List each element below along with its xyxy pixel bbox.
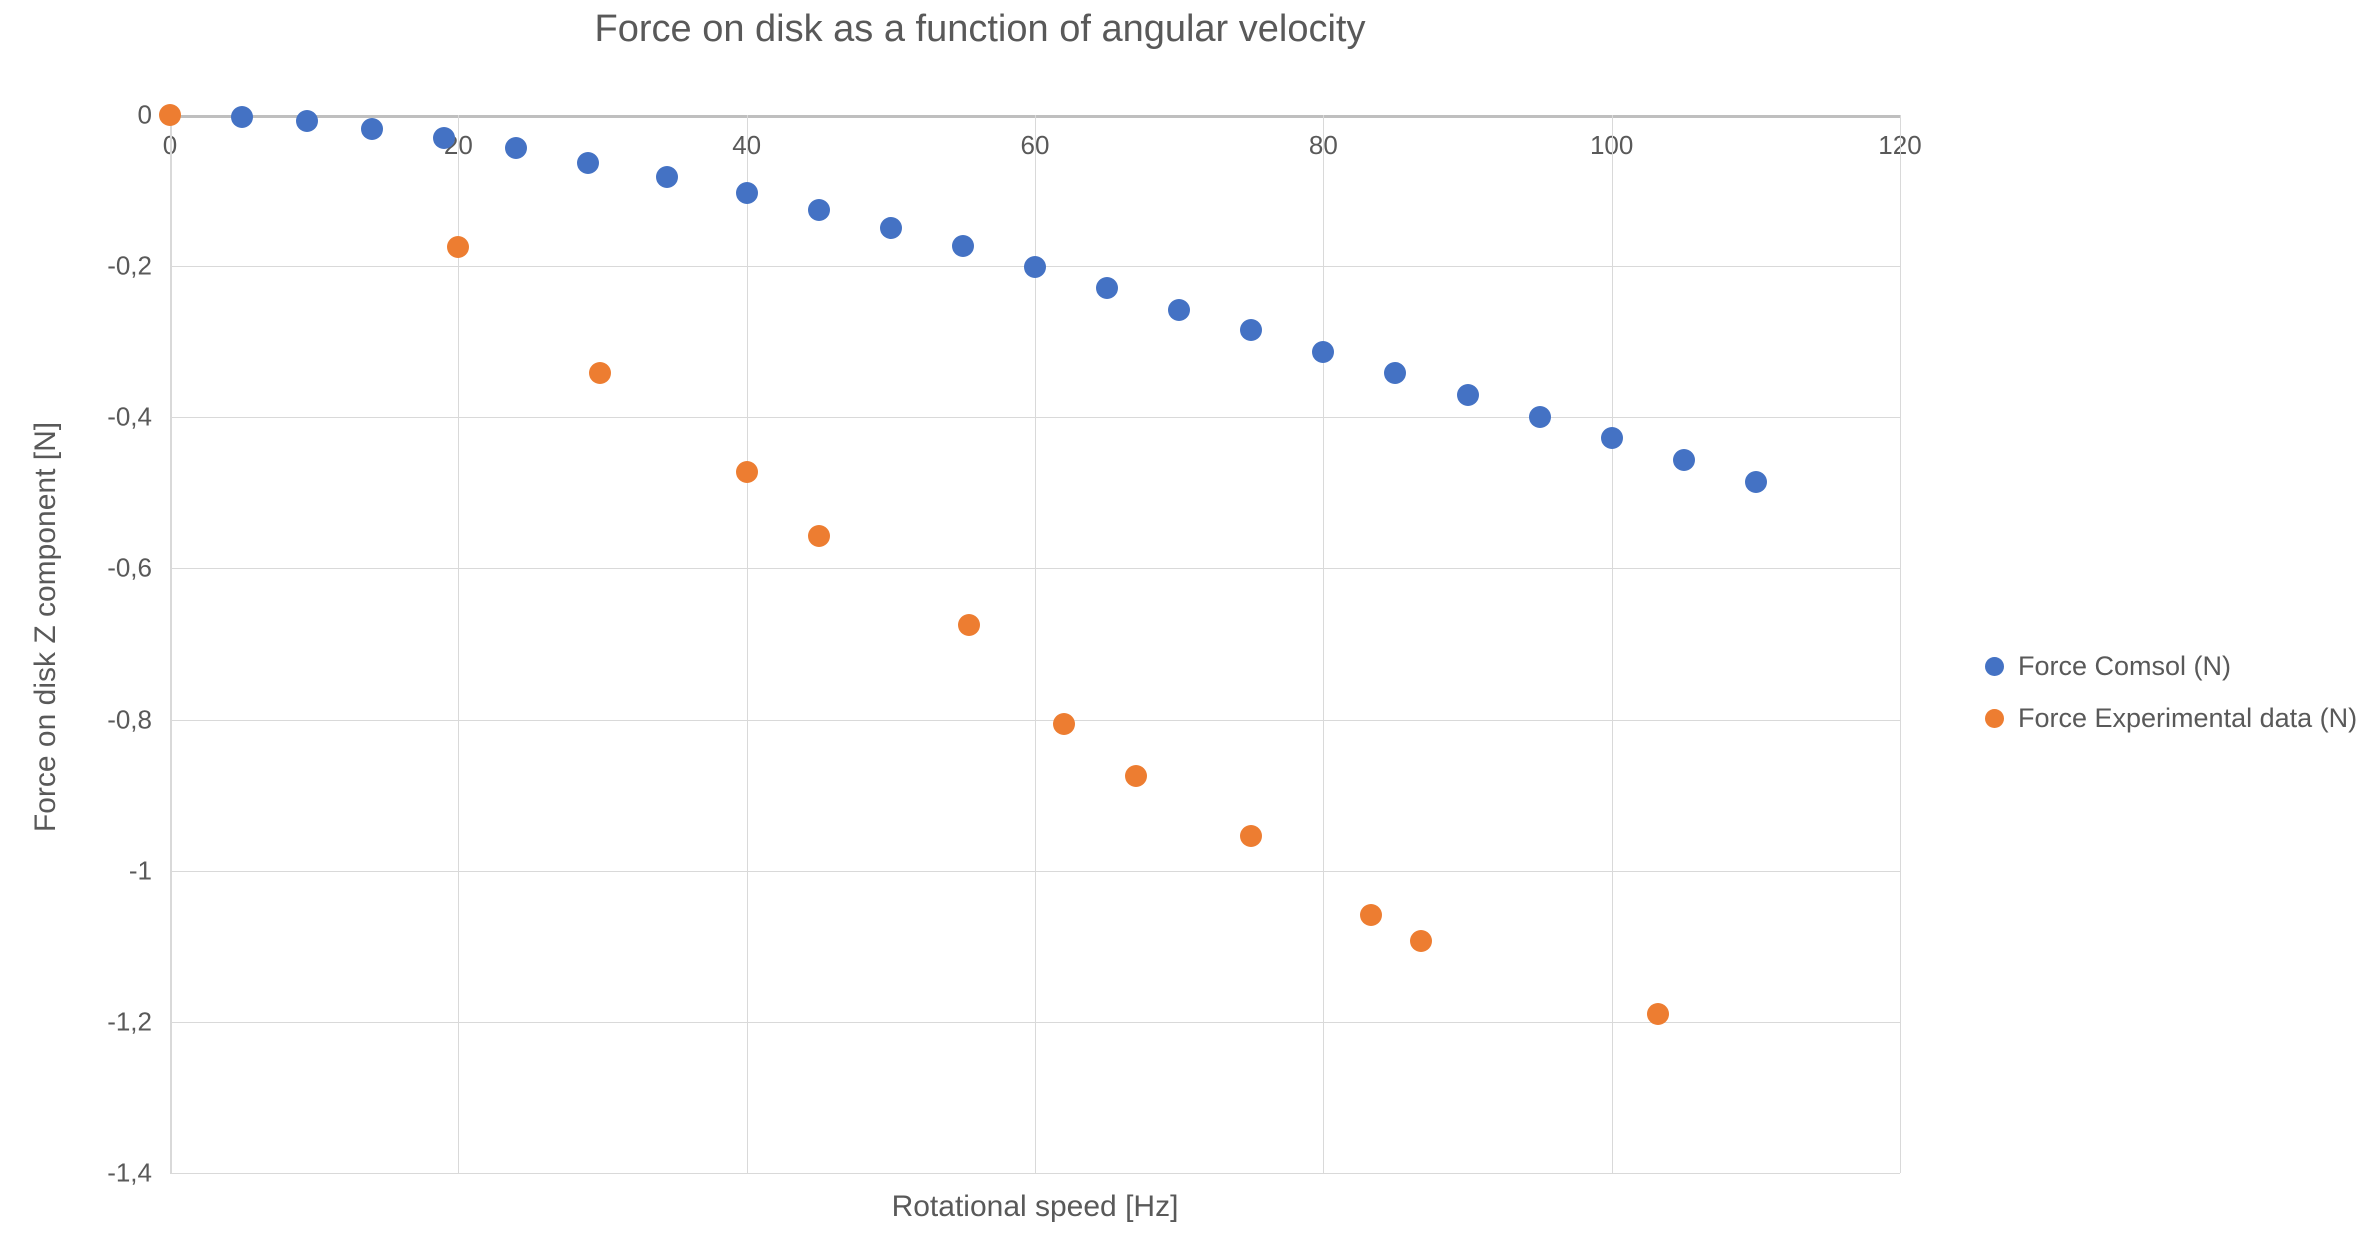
data-point[interactable] xyxy=(1360,904,1382,926)
legend-item-label: Force Experimental data (N) xyxy=(2018,703,2357,734)
data-point[interactable] xyxy=(1024,256,1046,278)
data-point[interactable] xyxy=(1125,765,1147,787)
data-point[interactable] xyxy=(1384,362,1406,384)
legend-item[interactable]: Force Experimental data (N) xyxy=(1985,692,2355,744)
data-point[interactable] xyxy=(656,166,678,188)
data-point[interactable] xyxy=(1240,825,1262,847)
data-point[interactable] xyxy=(736,182,758,204)
data-point[interactable] xyxy=(577,152,599,174)
gridline-vertical xyxy=(747,115,748,1173)
data-point[interactable] xyxy=(808,199,830,221)
data-point[interactable] xyxy=(1529,406,1551,428)
data-point[interactable] xyxy=(958,614,980,636)
data-point[interactable] xyxy=(447,236,469,258)
gridline-vertical xyxy=(458,115,459,1173)
data-point[interactable] xyxy=(361,118,383,140)
data-point[interactable] xyxy=(433,127,455,149)
data-point[interactable] xyxy=(952,235,974,257)
data-point[interactable] xyxy=(231,106,253,128)
circle-marker-icon xyxy=(1985,709,2004,728)
chart-title: Force on disk as a function of angular v… xyxy=(0,8,1960,51)
y-tick-label: -0,2 xyxy=(107,251,152,282)
data-point[interactable] xyxy=(589,362,611,384)
data-point[interactable] xyxy=(159,104,181,126)
data-point[interactable] xyxy=(880,217,902,239)
data-point[interactable] xyxy=(1457,384,1479,406)
data-point[interactable] xyxy=(1053,713,1075,735)
gridline-vertical xyxy=(1612,115,1613,1173)
data-point[interactable] xyxy=(505,137,527,159)
y-tick-label: -0,6 xyxy=(107,553,152,584)
data-point[interactable] xyxy=(1240,319,1262,341)
data-point[interactable] xyxy=(1601,427,1623,449)
data-point[interactable] xyxy=(1673,449,1695,471)
y-tick-label: -0,8 xyxy=(107,704,152,735)
chart-legend: Force Comsol (N)Force Experimental data … xyxy=(1985,640,2355,744)
y-tick-label: -0,4 xyxy=(107,402,152,433)
y-axis-tick-labels: 0-0,2-0,4-0,6-0,8-1-1,2-1,4 xyxy=(0,115,152,1173)
data-point[interactable] xyxy=(296,110,318,132)
gridline-vertical xyxy=(1323,115,1324,1173)
x-axis-title: Rotational speed [Hz] xyxy=(170,1190,1900,1224)
data-point[interactable] xyxy=(1096,277,1118,299)
y-tick-label: -1,2 xyxy=(107,1006,152,1037)
data-point[interactable] xyxy=(736,461,758,483)
data-point[interactable] xyxy=(1745,471,1767,493)
data-point[interactable] xyxy=(1312,341,1334,363)
data-point[interactable] xyxy=(1168,299,1190,321)
y-tick-label: 0 xyxy=(138,100,152,131)
data-point[interactable] xyxy=(808,525,830,547)
gridline-vertical xyxy=(170,115,171,1173)
y-tick-label: -1,4 xyxy=(107,1158,152,1189)
circle-marker-icon xyxy=(1985,657,2004,676)
legend-item-label: Force Comsol (N) xyxy=(2018,651,2231,682)
data-point[interactable] xyxy=(1647,1003,1669,1025)
gridline-horizontal xyxy=(170,1173,1900,1174)
plot-area xyxy=(170,115,1900,1173)
legend-item[interactable]: Force Comsol (N) xyxy=(1985,640,2355,692)
scatter-chart: Force on disk as a function of angular v… xyxy=(0,0,2365,1252)
y-tick-label: -1 xyxy=(129,855,152,886)
gridline-vertical xyxy=(1900,115,1901,1173)
data-point[interactable] xyxy=(1410,930,1432,952)
